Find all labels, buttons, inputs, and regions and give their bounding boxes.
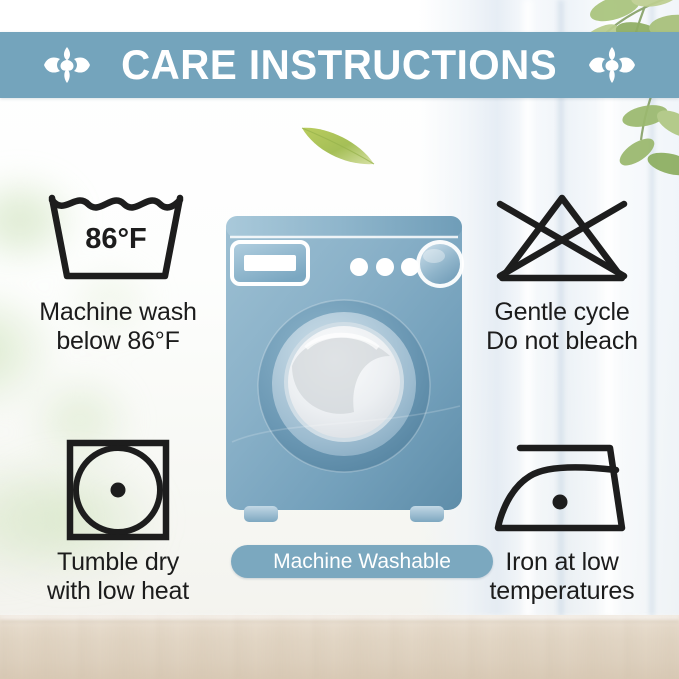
iron-icon bbox=[452, 438, 672, 542]
machine-washable-badge-label: Machine Washable bbox=[273, 550, 451, 574]
care-symbol-label-tumble-dry: Tumble dry with low heat bbox=[8, 548, 228, 606]
control-indicator-dots bbox=[350, 258, 419, 276]
control-knob bbox=[416, 240, 464, 288]
care-symbol-label-do-not-bleach: Gentle cycle Do not bleach bbox=[452, 298, 672, 356]
wash-temperature-text: 86°F bbox=[85, 223, 147, 255]
background-table-edge-line bbox=[0, 620, 679, 623]
fleur-de-lis-icon-right bbox=[589, 45, 635, 85]
leaf-icon bbox=[296, 118, 382, 170]
detergent-drawer bbox=[232, 242, 308, 284]
care-instructions-infographic: CARE INSTRUCTIONS 86°F Machine wash belo… bbox=[0, 0, 679, 679]
care-symbol-label-machine-wash: Machine wash below 86°F bbox=[8, 298, 228, 356]
page-title: CARE INSTRUCTIONS bbox=[121, 44, 557, 86]
washing-machine-illustration bbox=[222, 206, 466, 536]
care-symbol-iron: Iron at low temperatures bbox=[452, 438, 672, 606]
fleur-de-lis-icon-left bbox=[44, 45, 90, 85]
washer-door bbox=[258, 300, 430, 472]
header-banner: CARE INSTRUCTIONS bbox=[0, 32, 679, 98]
tumble-dry-square-icon bbox=[8, 438, 228, 542]
wash-tub-icon: 86°F bbox=[8, 188, 228, 292]
machine-washable-badge: Machine Washable bbox=[231, 545, 493, 578]
triangle-crossed-out-icon bbox=[452, 188, 672, 292]
care-symbol-machine-wash: 86°F Machine wash below 86°F bbox=[8, 188, 228, 356]
care-symbol-tumble-dry: Tumble dry with low heat bbox=[8, 438, 228, 606]
care-symbol-do-not-bleach: Gentle cycle Do not bleach bbox=[452, 188, 672, 356]
background-table-grain bbox=[0, 615, 679, 679]
